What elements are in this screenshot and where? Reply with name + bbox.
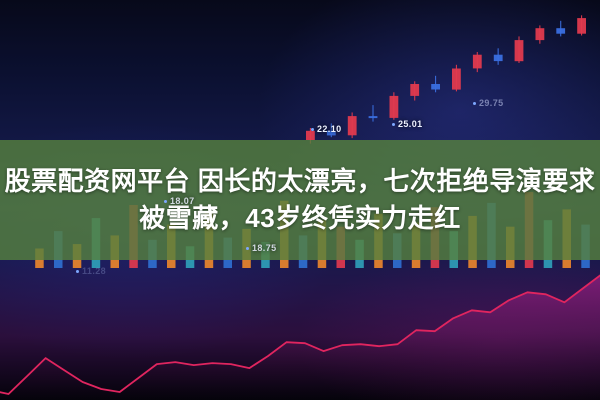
- label-18-07: 18.07: [164, 196, 195, 206]
- label-29-75: 29.75: [473, 98, 504, 108]
- label-11-28: 11.28: [76, 266, 106, 276]
- headline-banner: 股票配资网平台 因长的太漂亮，七次拒绝导演要求 被雪藏，43岁终凭实力走红: [0, 140, 600, 260]
- price-label-text: 22.10: [317, 124, 342, 134]
- price-marker-dot: [76, 270, 79, 273]
- label-22-10: 22.10: [311, 124, 342, 134]
- price-label-text: 11.28: [82, 266, 106, 276]
- price-marker-dot: [473, 102, 476, 105]
- chart-background-image: 22.1025.0129.7518.0718.7511.28 股票配资网平台 因…: [0, 0, 600, 400]
- price-label-text: 18.75: [252, 243, 277, 253]
- headline-line-1: 股票配资网平台 因长的太漂亮，七次拒绝导演要求: [5, 166, 596, 197]
- price-marker-dot: [246, 247, 249, 250]
- price-marker-dot: [392, 123, 395, 126]
- label-18-75: 18.75: [246, 243, 277, 253]
- price-label-text: 25.01: [398, 119, 423, 129]
- price-marker-dot: [164, 200, 167, 203]
- price-label-text: 29.75: [479, 98, 504, 108]
- label-25-01: 25.01: [392, 119, 423, 129]
- price-label-text: 18.07: [170, 196, 195, 206]
- price-marker-dot: [311, 128, 314, 131]
- headline-line-2: 被雪藏，43岁终凭实力走红: [139, 203, 460, 234]
